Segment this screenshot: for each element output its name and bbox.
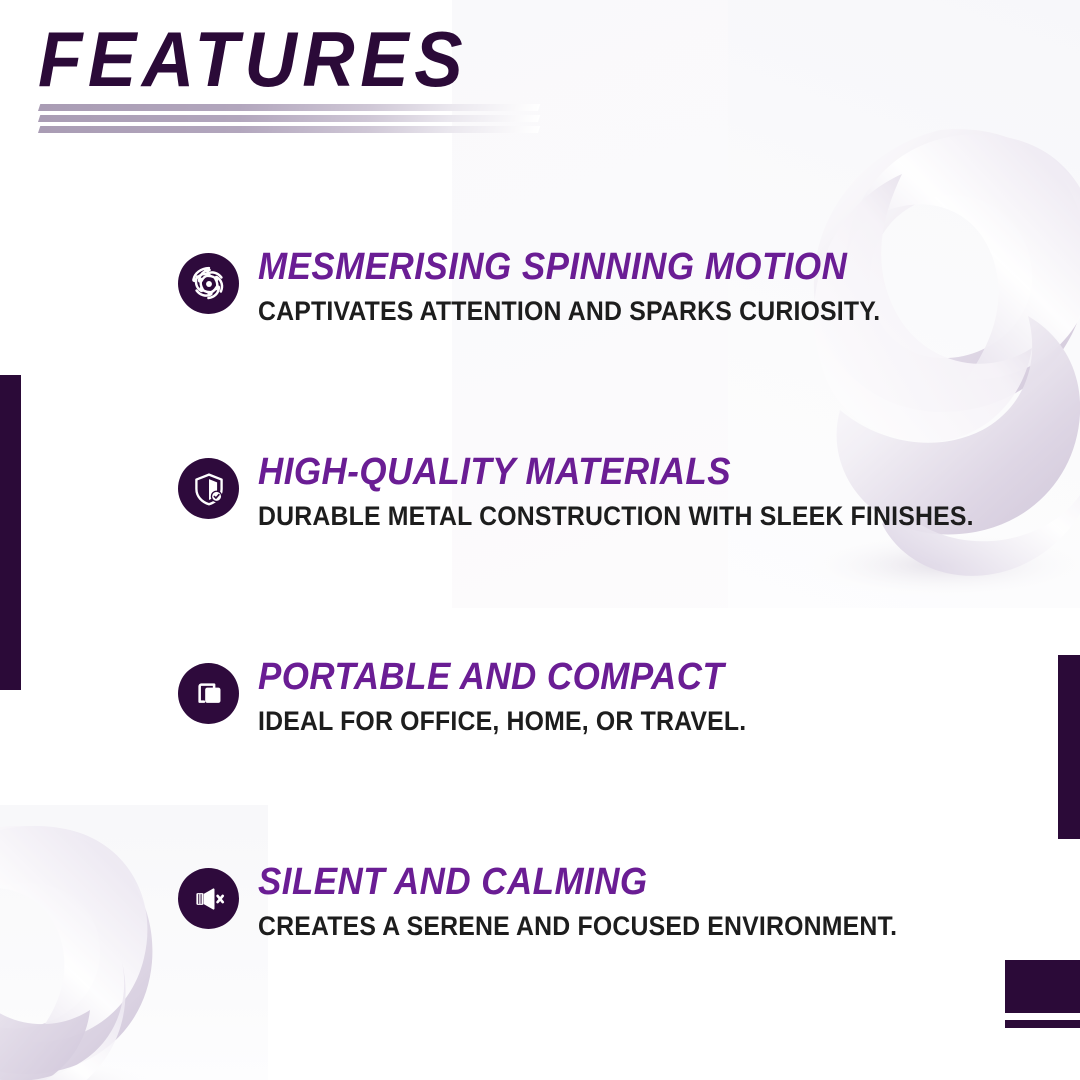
feature-description: CAPTIVATES ATTENTION AND SPARKS CURIOSIT…: [258, 295, 920, 327]
title-underline-rules: [38, 104, 538, 133]
feature-item-mesmerising-spinning-motion: MESMERISING SPINNING MOTION CAPTIVATES A…: [178, 243, 978, 361]
feature-heading: HIGH-QUALITY MATERIALS: [258, 450, 920, 494]
decorative-left-bar: [0, 375, 21, 690]
speaker-mute-icon: [178, 868, 239, 929]
feature-heading: MESMERISING SPINNING MOTION: [258, 245, 920, 289]
feature-description: DURABLE METAL CONSTRUCTION WITH SLEEK FI…: [258, 500, 920, 532]
feature-item-silent-and-calming: SILENT AND CALMING CREATES A SERENE AND …: [178, 858, 978, 976]
feature-text: MESMERISING SPINNING MOTION CAPTIVATES A…: [258, 243, 978, 327]
feature-text: HIGH-QUALITY MATERIALS DURABLE METAL CON…: [258, 448, 978, 532]
decorative-bottom-right-line: [1005, 1020, 1080, 1028]
copy-squares-icon: [178, 663, 239, 724]
decorative-right-bar: [1058, 655, 1080, 839]
feature-item-high-quality-materials: HIGH-QUALITY MATERIALS DURABLE METAL CON…: [178, 448, 978, 566]
features-poster: FEATURES: [0, 0, 1080, 1080]
feature-description: CREATES A SERENE AND FOCUSED ENVIRONMENT…: [258, 910, 920, 942]
feature-text: PORTABLE AND COMPACT IDEAL FOR OFFICE, H…: [258, 653, 978, 737]
feature-list: MESMERISING SPINNING MOTION CAPTIVATES A…: [178, 243, 978, 976]
title-rule-3: [38, 126, 540, 133]
feature-heading: PORTABLE AND COMPACT: [258, 655, 920, 699]
title-rule-2: [38, 115, 540, 122]
shield-check-icon: [178, 458, 239, 519]
title-block: FEATURES: [38, 18, 501, 100]
decorative-bottom-right-block: [1005, 960, 1080, 1013]
spinner-fan-icon: [178, 253, 239, 314]
feature-item-portable-and-compact: PORTABLE AND COMPACT IDEAL FOR OFFICE, H…: [178, 653, 978, 771]
title-rule-1: [38, 104, 540, 111]
feature-text: SILENT AND CALMING CREATES A SERENE AND …: [258, 858, 978, 942]
page-title: FEATURES: [38, 18, 468, 100]
feature-heading: SILENT AND CALMING: [258, 860, 920, 904]
feature-description: IDEAL FOR OFFICE, HOME, OR TRAVEL.: [258, 705, 920, 737]
